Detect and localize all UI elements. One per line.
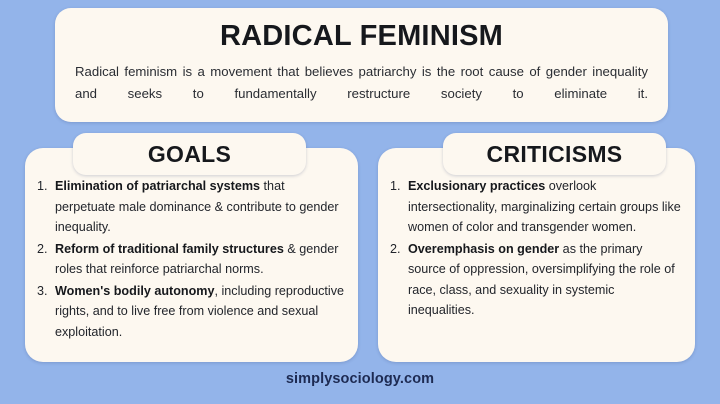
criticisms-heading-label: CRITICISMS [487, 141, 623, 167]
goals-list: 1.Elimination of patriarchal systems tha… [37, 176, 344, 342]
goals-heading-badge: GOALS [73, 133, 306, 175]
criticisms-heading-badge: CRITICISMS [443, 133, 666, 175]
list-item-number: 1. [390, 176, 401, 197]
list-item-lead: Elimination of patriarchal systems [55, 179, 260, 193]
title-card: RADICAL FEMINISM Radical feminism is a m… [55, 8, 668, 122]
footer-credit: simplysociology.com [0, 371, 720, 387]
criticisms-list: 1.Exclusionary practices overlook inters… [390, 176, 681, 321]
goals-card: 1.Elimination of patriarchal systems tha… [25, 148, 358, 362]
list-item-number: 2. [390, 239, 401, 260]
list-item-lead: Overemphasis on gender [408, 242, 559, 256]
list-item-number: 3. [37, 281, 48, 302]
criticisms-card: 1.Exclusionary practices overlook inters… [378, 148, 695, 362]
list-item: 2.Overemphasis on gender as the primary … [390, 239, 681, 321]
list-item: 1.Elimination of patriarchal systems tha… [37, 176, 344, 238]
list-item-number: 1. [37, 176, 48, 197]
list-item-lead: Exclusionary practices [408, 179, 545, 193]
list-item: 3.Women's bodily autonomy, including rep… [37, 281, 344, 343]
goals-heading-label: GOALS [148, 141, 231, 167]
intro-paragraph: Radical feminism is a movement that beli… [75, 61, 648, 105]
list-item: 2.Reform of traditional family structure… [37, 239, 344, 280]
list-item: 1.Exclusionary practices overlook inters… [390, 176, 681, 238]
list-item-number: 2. [37, 239, 48, 260]
list-item-lead: Reform of traditional family structures [55, 242, 284, 256]
list-item-lead: Women's bodily autonomy [55, 284, 215, 298]
page-title: RADICAL FEMINISM [71, 18, 652, 54]
